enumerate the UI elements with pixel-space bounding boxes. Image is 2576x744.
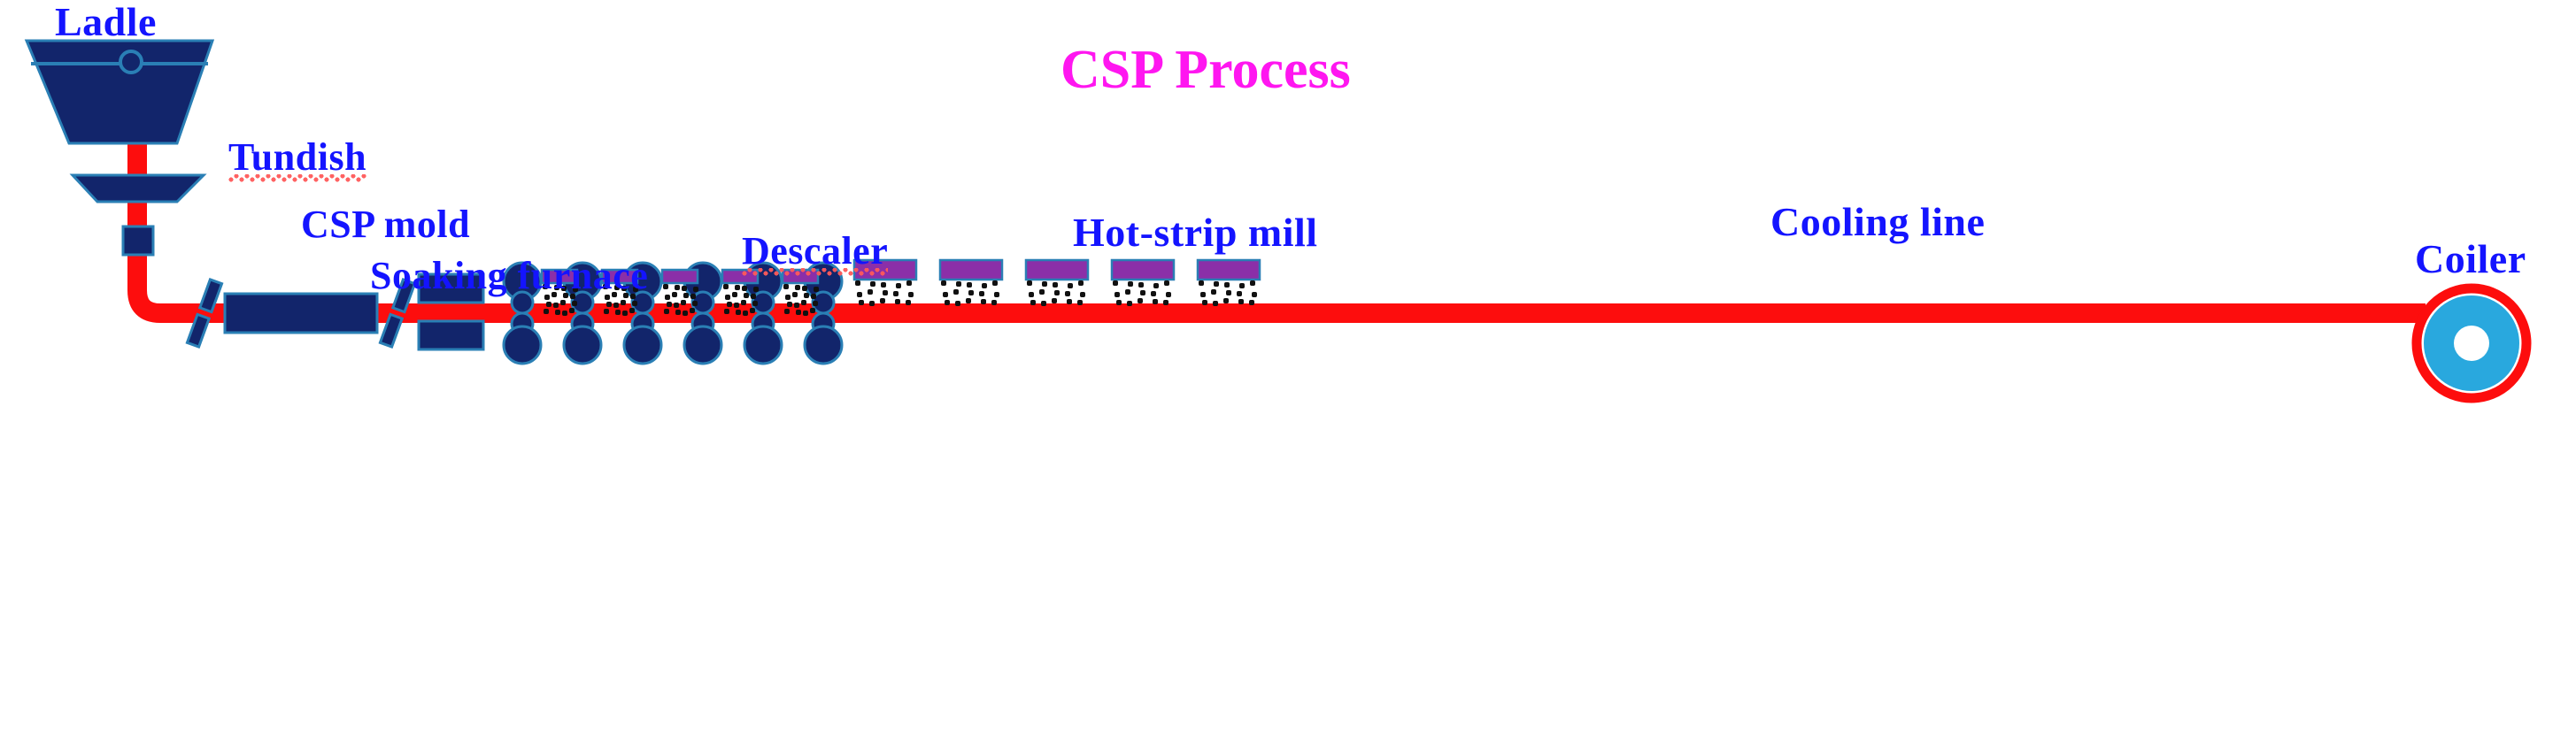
cooling-spray-1-dot — [870, 281, 875, 287]
cooling-spray-1-dot — [880, 298, 885, 303]
mill-spray-4-dot — [723, 284, 729, 289]
cooling-spray-5-dot — [1252, 292, 1257, 297]
cooling-header-3 — [1026, 260, 1088, 280]
cooling-spray-4-dot — [1114, 292, 1120, 297]
mill-spray-1-dot — [572, 301, 577, 306]
cooling-spray-2-dot — [994, 292, 999, 297]
cooling-spray-5-dot — [1199, 280, 1204, 286]
cooling-header-5 — [1198, 260, 1260, 280]
mill-stand-6-backup-roll-bottom — [805, 326, 842, 364]
cooling-spray-3-dot — [1068, 283, 1073, 288]
cooling-spray-3-dot — [1042, 281, 1047, 287]
mill-spray-3-dot — [681, 300, 686, 305]
cooling-spray-2-dot — [979, 291, 984, 296]
mill-spray-2-dot — [606, 302, 612, 307]
cooling-spray-2-dot — [943, 292, 948, 297]
mill-spray-5-dot — [803, 311, 808, 316]
cooling-spray-2-dot — [968, 290, 974, 295]
cooling-spray-2-dot — [953, 289, 959, 295]
cooling-spray-3-dot — [1027, 280, 1032, 286]
mill-spray-4-dot — [724, 309, 729, 314]
cooling-spray-1-dot — [883, 290, 888, 295]
mill-spray-1-dot — [569, 308, 575, 313]
mill-spray-4-dot — [753, 287, 759, 292]
mill-spray-5-dot — [813, 301, 818, 306]
cooling-spray-3-dot — [1030, 300, 1036, 305]
mill-spray-3-dot — [675, 310, 681, 315]
cooling-spray-1-dot — [906, 300, 911, 305]
cooling-spray-4-dot — [1138, 298, 1143, 303]
mill-spray-5-dot — [801, 300, 806, 305]
cooling-spray-1-dot — [857, 292, 862, 297]
cooling-header-4 — [1112, 260, 1174, 280]
cooling-spray-1-dot — [906, 280, 912, 286]
cooling-spray-5-dot — [1238, 299, 1244, 304]
mill-spray-4-dot — [744, 293, 749, 298]
csp-mold-body — [123, 226, 153, 255]
mill-spray-3-dot — [693, 287, 698, 292]
cooling-spray-3-dot — [1053, 282, 1058, 288]
cooling-spray-5-dot — [1223, 298, 1229, 303]
mill-spray-1-dot — [560, 300, 566, 305]
mill-spray-4-dot — [725, 295, 730, 300]
spellcheck-underline-tundish — [228, 174, 366, 182]
mill-spray-4-dot — [743, 311, 748, 316]
mill-spray-5-dot — [810, 308, 815, 313]
cooling-spray-4-dot — [1153, 283, 1159, 288]
label-descaler: Descaler — [742, 232, 888, 271]
coiler-hub — [2454, 326, 2489, 361]
cooling-spray-3-dot — [1065, 291, 1070, 296]
soaking-furnace-body — [225, 294, 377, 333]
mill-spray-2-dot — [615, 310, 621, 315]
mill-spray-3-dot — [675, 285, 680, 290]
cooling-spray-1-dot — [893, 291, 899, 296]
cooling-spray-2-dot — [966, 298, 971, 303]
mill-spray-5-dot — [795, 285, 800, 290]
mill-stand-4-backup-roll-bottom — [684, 326, 721, 364]
cooling-spray-3-dot — [1054, 290, 1060, 295]
tundish-body — [73, 175, 204, 202]
descaler-lower-box — [419, 321, 483, 349]
mill-spray-5-dot — [814, 287, 819, 292]
cooling-spray-4-dot — [1151, 291, 1156, 296]
mill-spray-2-dot — [622, 311, 628, 316]
mill-spray-header-3 — [662, 270, 698, 283]
label-ladle: Ladle — [55, 2, 157, 42]
label-cooling-line: Cooling line — [1770, 202, 1985, 242]
mill-spray-4-dot — [751, 294, 756, 299]
cooling-spray-4-dot — [1163, 300, 1168, 305]
mill-spray-5-dot — [794, 303, 799, 308]
cooling-spray-5-dot — [1214, 281, 1219, 287]
label-tundish: Tundish — [228, 138, 366, 177]
cooling-spray-1-dot — [895, 299, 900, 304]
mill-spray-3-dot — [665, 295, 670, 300]
label-hot-strip-mill: Hot-strip mill — [1073, 212, 1318, 253]
mill-spray-2-dot — [621, 300, 626, 305]
mill-spray-3-dot — [672, 292, 677, 297]
cooling-spray-2-dot — [982, 283, 987, 288]
cooling-spray-3-dot — [1029, 292, 1034, 297]
mill-spray-2-dot — [604, 309, 609, 314]
mill-stand-5-backup-roll-bottom — [744, 326, 782, 364]
cooling-spray-4-dot — [1166, 292, 1171, 297]
csp-process-diagram: CSP Process LadleTundishCSP moldSoaking … — [0, 0, 2576, 744]
cooling-spray-4-dot — [1125, 289, 1130, 295]
cooling-spray-2-dot — [941, 280, 946, 286]
cooling-spray-1-dot — [868, 289, 873, 295]
cooling-spray-3-dot — [1067, 299, 1072, 304]
cooling-spray-3-dot — [1080, 292, 1085, 297]
mill-spray-5-dot — [785, 295, 791, 300]
spellcheck-underline-descaler — [742, 268, 888, 276]
cooling-spray-2-dot — [991, 300, 997, 305]
mill-spray-4-dot — [742, 286, 747, 291]
cooling-spray-5-dot — [1226, 290, 1231, 295]
label-coiler: Coiler — [2415, 239, 2526, 280]
mill-spray-2-dot — [632, 301, 637, 306]
cooling-spray-3-dot — [1052, 298, 1057, 303]
mill-spray-4-dot — [750, 308, 755, 313]
mill-spray-3-dot — [663, 284, 668, 289]
cooling-spray-3-dot — [1039, 289, 1045, 295]
mill-spray-5-dot — [796, 310, 801, 315]
mill-spray-3-dot — [667, 302, 672, 307]
mill-spray-5-dot — [811, 294, 816, 299]
cooling-spray-4-dot — [1138, 282, 1144, 288]
mill-stand-2-backup-roll-bottom — [564, 326, 601, 364]
cooling-spray-5-dot — [1211, 289, 1216, 295]
mill-spray-5-dot — [802, 286, 807, 291]
mill-stand-1-backup-roll-bottom — [504, 326, 541, 364]
cooling-spray-5-dot — [1249, 300, 1254, 305]
mill-spray-4-dot — [752, 301, 758, 306]
mill-spray-1-dot — [555, 310, 560, 315]
cooling-header-2 — [940, 260, 1002, 280]
cooling-spray-5-dot — [1213, 301, 1218, 306]
mill-spray-4-dot — [736, 310, 741, 315]
mill-spray-4-dot — [727, 302, 732, 307]
mill-spray-3-dot — [664, 309, 669, 314]
label-csp-mold: CSP mold — [301, 205, 470, 244]
mill-spray-1-dot — [553, 303, 559, 308]
cooling-spray-1-dot — [881, 282, 886, 288]
mill-spray-5-dot — [783, 284, 789, 289]
mill-spray-4-dot — [735, 285, 740, 290]
cooling-spray-1-dot — [896, 283, 901, 288]
cooling-spray-4-dot — [1153, 299, 1158, 304]
mill-spray-4-dot — [732, 292, 737, 297]
diagram-canvas — [0, 0, 2576, 744]
mill-spray-3-dot — [682, 286, 687, 291]
mill-spray-3-dot — [690, 294, 696, 299]
mill-spray-3-dot — [683, 311, 688, 316]
mill-spray-5-dot — [784, 309, 790, 314]
mill-spray-5-dot — [787, 302, 792, 307]
cooling-spray-2-dot — [992, 280, 998, 286]
cooling-spray-5-dot — [1237, 291, 1242, 296]
mill-spray-3-dot — [683, 293, 689, 298]
cooling-spray-3-dot — [1078, 280, 1084, 286]
cooling-spray-2-dot — [956, 281, 961, 287]
cooling-spray-5-dot — [1202, 300, 1207, 305]
mill-spray-1-dot — [562, 311, 567, 316]
cooling-spray-4-dot — [1127, 301, 1132, 306]
label-soaking-furnace: Soaking furnace — [370, 257, 648, 295]
cooling-spray-2-dot — [981, 299, 986, 304]
cooling-spray-5-dot — [1250, 280, 1255, 286]
mill-spray-3-dot — [692, 301, 698, 306]
cooling-spray-4-dot — [1140, 290, 1145, 295]
cooling-spray-1-dot — [869, 301, 875, 306]
ladle-body — [27, 41, 212, 143]
cooling-spray-1-dot — [855, 280, 860, 286]
mill-stand-3-backup-roll-bottom — [624, 326, 661, 364]
mill-spray-4-dot — [734, 303, 739, 308]
cooling-spray-2-dot — [945, 300, 950, 305]
mill-spray-4-dot — [741, 300, 746, 305]
cooling-spray-3-dot — [1041, 301, 1046, 306]
cooling-spray-2-dot — [967, 282, 972, 288]
cooling-spray-4-dot — [1116, 300, 1122, 305]
mill-spray-5-dot — [804, 293, 809, 298]
cooling-spray-5-dot — [1224, 282, 1230, 288]
cooling-spray-3-dot — [1077, 300, 1083, 305]
mill-spray-2-dot — [629, 308, 635, 313]
ladle-nozzle-icon — [120, 51, 142, 73]
mill-spray-2-dot — [613, 303, 619, 308]
cooling-spray-4-dot — [1164, 280, 1169, 286]
cooling-spray-5-dot — [1239, 283, 1245, 288]
mill-spray-1-dot — [546, 302, 551, 307]
mill-spray-1-dot — [544, 309, 549, 314]
cooling-spray-5-dot — [1200, 292, 1206, 297]
cooling-spray-4-dot — [1128, 281, 1133, 287]
mill-spray-5-dot — [792, 292, 798, 297]
cooling-spray-2-dot — [955, 301, 960, 306]
cooling-spray-1-dot — [859, 300, 864, 305]
cooling-spray-4-dot — [1113, 280, 1118, 286]
cooling-spray-1-dot — [908, 292, 914, 297]
mill-spray-3-dot — [690, 308, 695, 313]
mill-spray-3-dot — [674, 303, 679, 308]
